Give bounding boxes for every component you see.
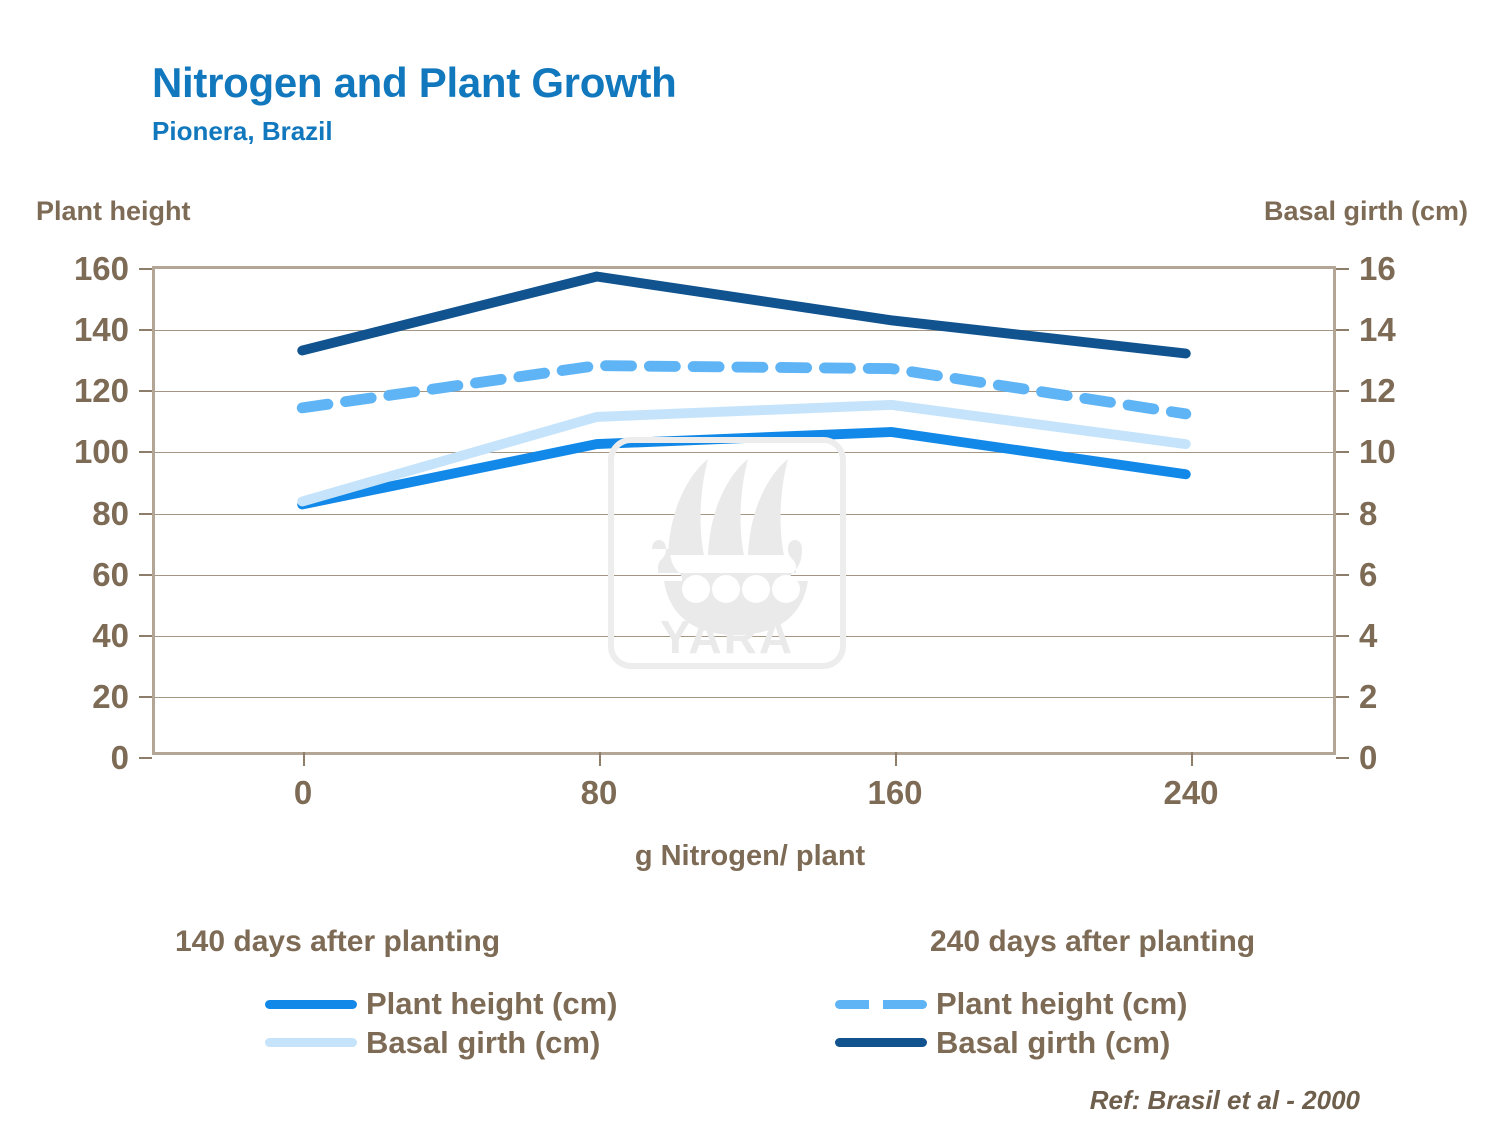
x-axis-tick [599, 752, 601, 766]
legend-heading-240-days: 240 days after planting [930, 925, 1255, 959]
legend-item-plant-height-240[interactable]: Plant height (cm) [835, 986, 1255, 1023]
axis-tick [139, 757, 152, 759]
y-axis-right-tick-label: 8 [1359, 497, 1377, 530]
y-axis-right-tick-label: 10 [1359, 435, 1396, 468]
y-axis-right-tick-label: 2 [1359, 680, 1377, 713]
axis-tick [139, 268, 152, 270]
legend-swatch-plant-height-140 [265, 1000, 357, 1009]
axis-tick [1336, 390, 1349, 392]
axis-tick [139, 329, 152, 331]
legend-swatch-basal-girth-140 [265, 1038, 357, 1047]
y-axis-left-tick-label: 160 [74, 252, 129, 285]
y-axis-right-tick-label: 16 [1359, 252, 1396, 285]
legend-heading-140-days: 140 days after planting [175, 925, 617, 959]
legend-240-days: 240 days after planting Plant height (cm… [930, 925, 1255, 1061]
y-axis-left-tick-label: 40 [92, 619, 129, 652]
title-block: Nitrogen and Plant Growth Pionera, Brazi… [152, 62, 677, 147]
x-axis-tick [1191, 752, 1193, 766]
axis-tick [139, 390, 152, 392]
y-axis-right-tick-label: 12 [1359, 374, 1396, 407]
legend-140-days: 140 days after planting Plant height (cm… [175, 925, 617, 1061]
y-axis-right-tick-label: 14 [1359, 313, 1396, 346]
y-axis-right-title: Basal girth (cm) [1264, 196, 1468, 227]
y-axis-right-tick-label: 0 [1359, 741, 1377, 774]
axis-tick [1336, 329, 1349, 331]
y-axis-left-tick-label: 0 [111, 741, 129, 774]
x-axis-tick-label: 240 [1163, 774, 1218, 812]
axis-tick [139, 635, 152, 637]
chart-container: Nitrogen and Plant Growth Pionera, Brazi… [0, 0, 1500, 1126]
y-axis-left-tick-label: 60 [92, 558, 129, 591]
y-axis-left-tick-label: 20 [92, 680, 129, 713]
x-axis-tick-label: 160 [867, 774, 922, 812]
plot-area: 0020240460680810010120121401416016080160… [152, 266, 1336, 755]
series-line [302, 277, 1186, 354]
y-axis-right-tick-label: 4 [1359, 619, 1377, 652]
chart-subtitle: Pionera, Brazil [152, 116, 677, 147]
axis-tick [139, 451, 152, 453]
y-axis-right-tick-label: 6 [1359, 558, 1377, 591]
axis-tick [139, 574, 152, 576]
reference-citation: Ref: Brasil et al - 2000 [1090, 1085, 1360, 1116]
legend-label-plant-height-140: Plant height (cm) [366, 986, 617, 1023]
axis-tick [1336, 451, 1349, 453]
page-title: Nitrogen and Plant Growth [152, 62, 677, 104]
axis-tick [1336, 268, 1349, 270]
axis-tick [1336, 513, 1349, 515]
axis-tick [139, 696, 152, 698]
legend-label-basal-girth-240: Basal girth (cm) [936, 1025, 1170, 1062]
legend-label-basal-girth-140: Basal girth (cm) [366, 1025, 600, 1062]
axis-tick [1336, 635, 1349, 637]
legend-item-plant-height-140[interactable]: Plant height (cm) [265, 986, 617, 1023]
legend-swatch-plant-height-240 [835, 1000, 927, 1009]
x-axis-tick [303, 752, 305, 766]
legend-item-basal-girth-240[interactable]: Basal girth (cm) [835, 1025, 1255, 1062]
legend-label-plant-height-240: Plant height (cm) [936, 986, 1187, 1023]
legend-item-basal-girth-140[interactable]: Basal girth (cm) [265, 1025, 617, 1062]
x-axis-tick-label: 0 [294, 774, 312, 812]
y-axis-left-tick-label: 80 [92, 497, 129, 530]
y-axis-left-tick-label: 100 [74, 435, 129, 468]
y-axis-left-title: Plant height [36, 196, 191, 227]
axis-tick [1336, 574, 1349, 576]
x-axis-tick-label: 80 [581, 774, 618, 812]
axis-tick [1336, 757, 1349, 759]
series-lines [155, 269, 1333, 752]
axis-tick [1336, 696, 1349, 698]
x-axis-tick [895, 752, 897, 766]
y-axis-left-tick-label: 140 [74, 313, 129, 346]
x-axis-title: g Nitrogen/ plant [0, 840, 1500, 873]
y-axis-left-tick-label: 120 [74, 374, 129, 407]
axis-tick [139, 513, 152, 515]
legend-swatch-basal-girth-240 [835, 1038, 927, 1047]
